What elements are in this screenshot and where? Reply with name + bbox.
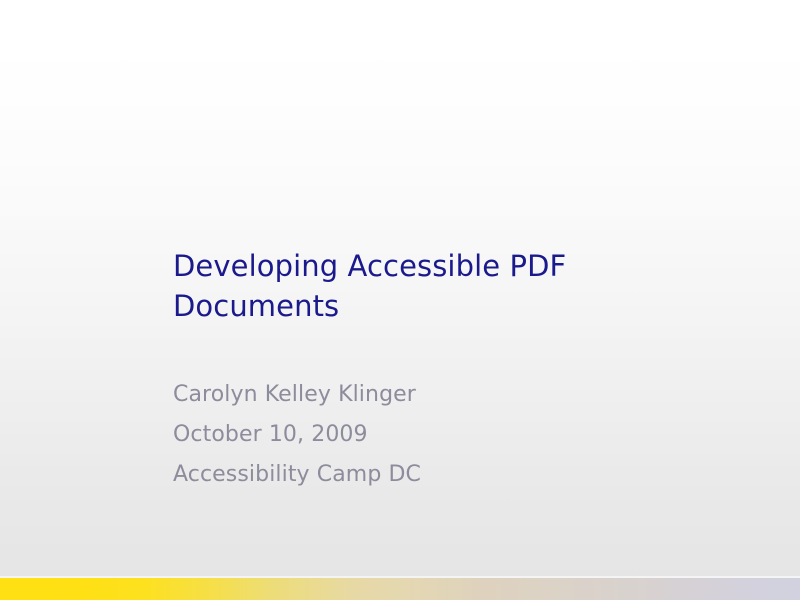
presentation-slide: Developing Accessible PDF Documents Caro…: [0, 0, 800, 600]
subtitle-date: October 10, 2009: [173, 415, 643, 455]
page-title: Developing Accessible PDF Documents: [173, 246, 603, 326]
footer-gradient-band: [0, 578, 800, 600]
title-slide-content: Developing Accessible PDF Documents Caro…: [173, 246, 643, 326]
subtitle-author: Carolyn Kelley Klinger: [173, 375, 643, 415]
subtitle-event: Accessibility Camp DC: [173, 455, 643, 495]
subtitle-block: Carolyn Kelley Klinger October 10, 2009 …: [173, 375, 643, 495]
